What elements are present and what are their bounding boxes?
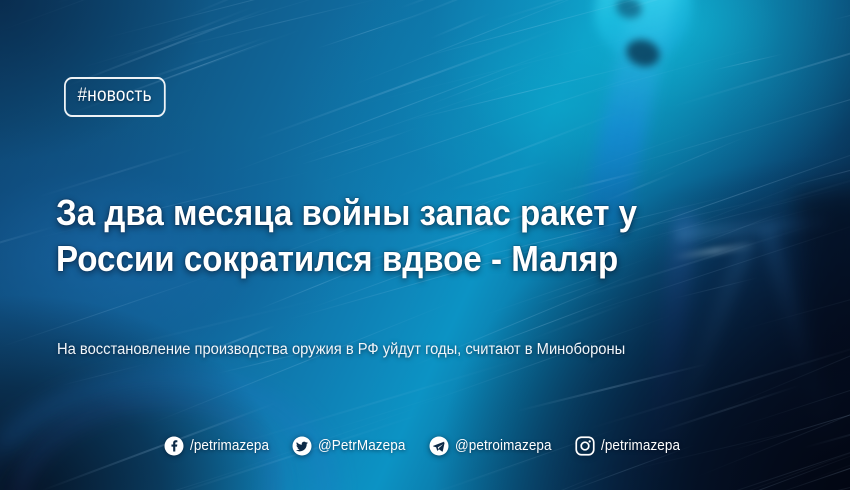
category-badge[interactable]: #новость — [64, 77, 165, 117]
news-card: #новость За два месяца войны запас ракет… — [0, 0, 850, 490]
social-link-twitter[interactable]: @PetrMazepa — [292, 436, 412, 456]
instagram-icon — [575, 436, 595, 456]
subtitle: На восстановление производства оружия в … — [57, 340, 741, 360]
social-links-bar: /petrimazepa @PetrMazepa @petroimazepa /… — [0, 436, 850, 456]
social-link-instagram[interactable]: /petrimazepa — [575, 436, 686, 456]
social-link-facebook[interactable]: /petrimazepa — [164, 436, 275, 456]
social-handle-twitter: @PetrMazepa — [318, 438, 405, 454]
telegram-icon — [429, 436, 449, 456]
social-handle-instagram: /petrimazepa — [601, 438, 680, 454]
category-badge-label: #новость — [78, 85, 152, 107]
social-handle-telegram: @petroimazepa — [455, 438, 552, 454]
twitter-icon — [292, 436, 312, 456]
headline: За два месяца войны запас ракет у России… — [56, 190, 700, 281]
social-handle-facebook: /petrimazepa — [190, 438, 269, 454]
facebook-icon — [164, 436, 184, 456]
social-link-telegram[interactable]: @petroimazepa — [429, 436, 559, 456]
